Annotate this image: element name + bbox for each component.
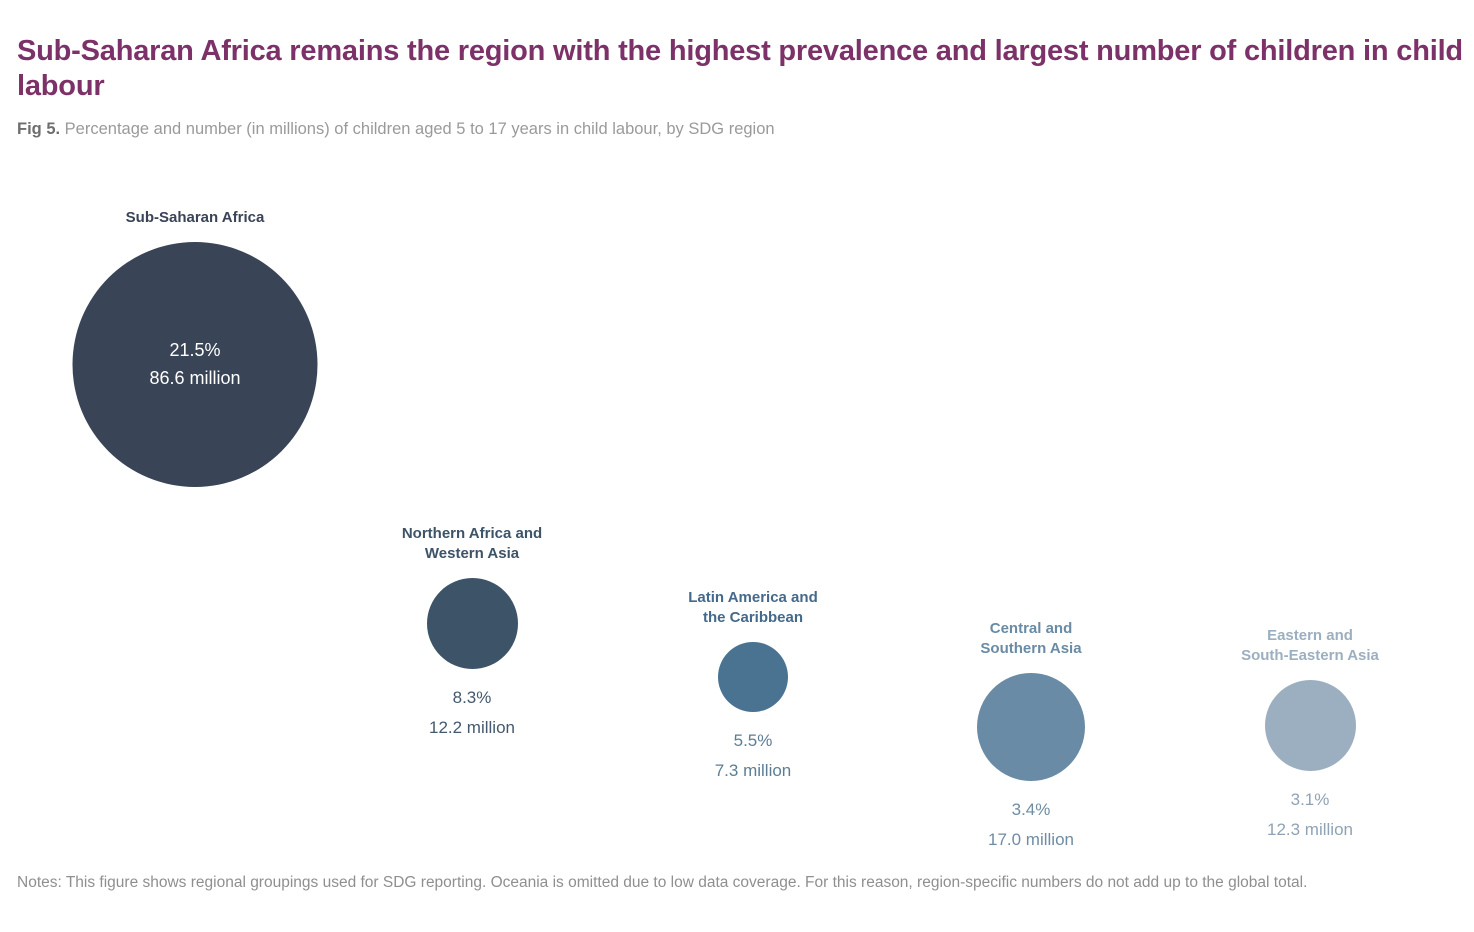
bubble-group-1[interactable]: Sub-Saharan Africa21.5%86.6 million xyxy=(73,208,318,487)
chart-notes: Notes: This figure shows regional groupi… xyxy=(17,870,1457,896)
bubble-values-inside: 21.5%86.6 million xyxy=(149,336,240,392)
bubble-million-value: 17.0 million xyxy=(921,825,1141,855)
bubble-label: Northern Africa and Western Asia xyxy=(362,524,582,564)
bubble-percent-value: 8.3% xyxy=(362,683,582,713)
bubble-million-value: 7.3 million xyxy=(643,756,863,786)
bubble-label: Latin America and the Caribbean xyxy=(643,588,863,628)
bubble-group-5[interactable]: Eastern and South-Eastern Asia3.1%12.3 m… xyxy=(1200,626,1420,845)
bubble-percent-value: 5.5% xyxy=(643,726,863,756)
bubble-group-2[interactable]: Northern Africa and Western Asia8.3%12.2… xyxy=(362,524,582,743)
bubble-circle[interactable]: 21.5%86.6 million xyxy=(73,242,318,487)
bubble-circle[interactable] xyxy=(718,642,788,712)
bubble-circle[interactable] xyxy=(1265,680,1356,771)
bubble-values-below: 3.1%12.3 million xyxy=(1200,785,1420,845)
bubble-percent-value: 3.1% xyxy=(1200,785,1420,815)
bubble-million-value: 12.3 million xyxy=(1200,815,1420,845)
bubble-values-below: 8.3%12.2 million xyxy=(362,683,582,743)
bubble-label: Eastern and South-Eastern Asia xyxy=(1200,626,1420,666)
bubble-circle[interactable] xyxy=(977,673,1085,781)
bubble-chart-plot-area: Sub-Saharan Africa21.5%86.6 millionNorth… xyxy=(0,0,1474,932)
bubble-label: Central and Southern Asia xyxy=(921,619,1141,659)
bubble-group-4[interactable]: Central and Southern Asia3.4%17.0 millio… xyxy=(921,619,1141,855)
bubble-values-below: 5.5%7.3 million xyxy=(643,726,863,786)
bubble-percent-value: 21.5% xyxy=(149,336,240,364)
bubble-percent-value: 3.4% xyxy=(921,795,1141,825)
bubble-million-value: 12.2 million xyxy=(362,713,582,743)
bubble-values-below: 3.4%17.0 million xyxy=(921,795,1141,855)
bubble-group-3[interactable]: Latin America and the Caribbean5.5%7.3 m… xyxy=(643,588,863,786)
bubble-million-value: 86.6 million xyxy=(149,364,240,392)
bubble-circle[interactable] xyxy=(427,578,518,669)
bubble-label: Sub-Saharan Africa xyxy=(73,208,318,228)
